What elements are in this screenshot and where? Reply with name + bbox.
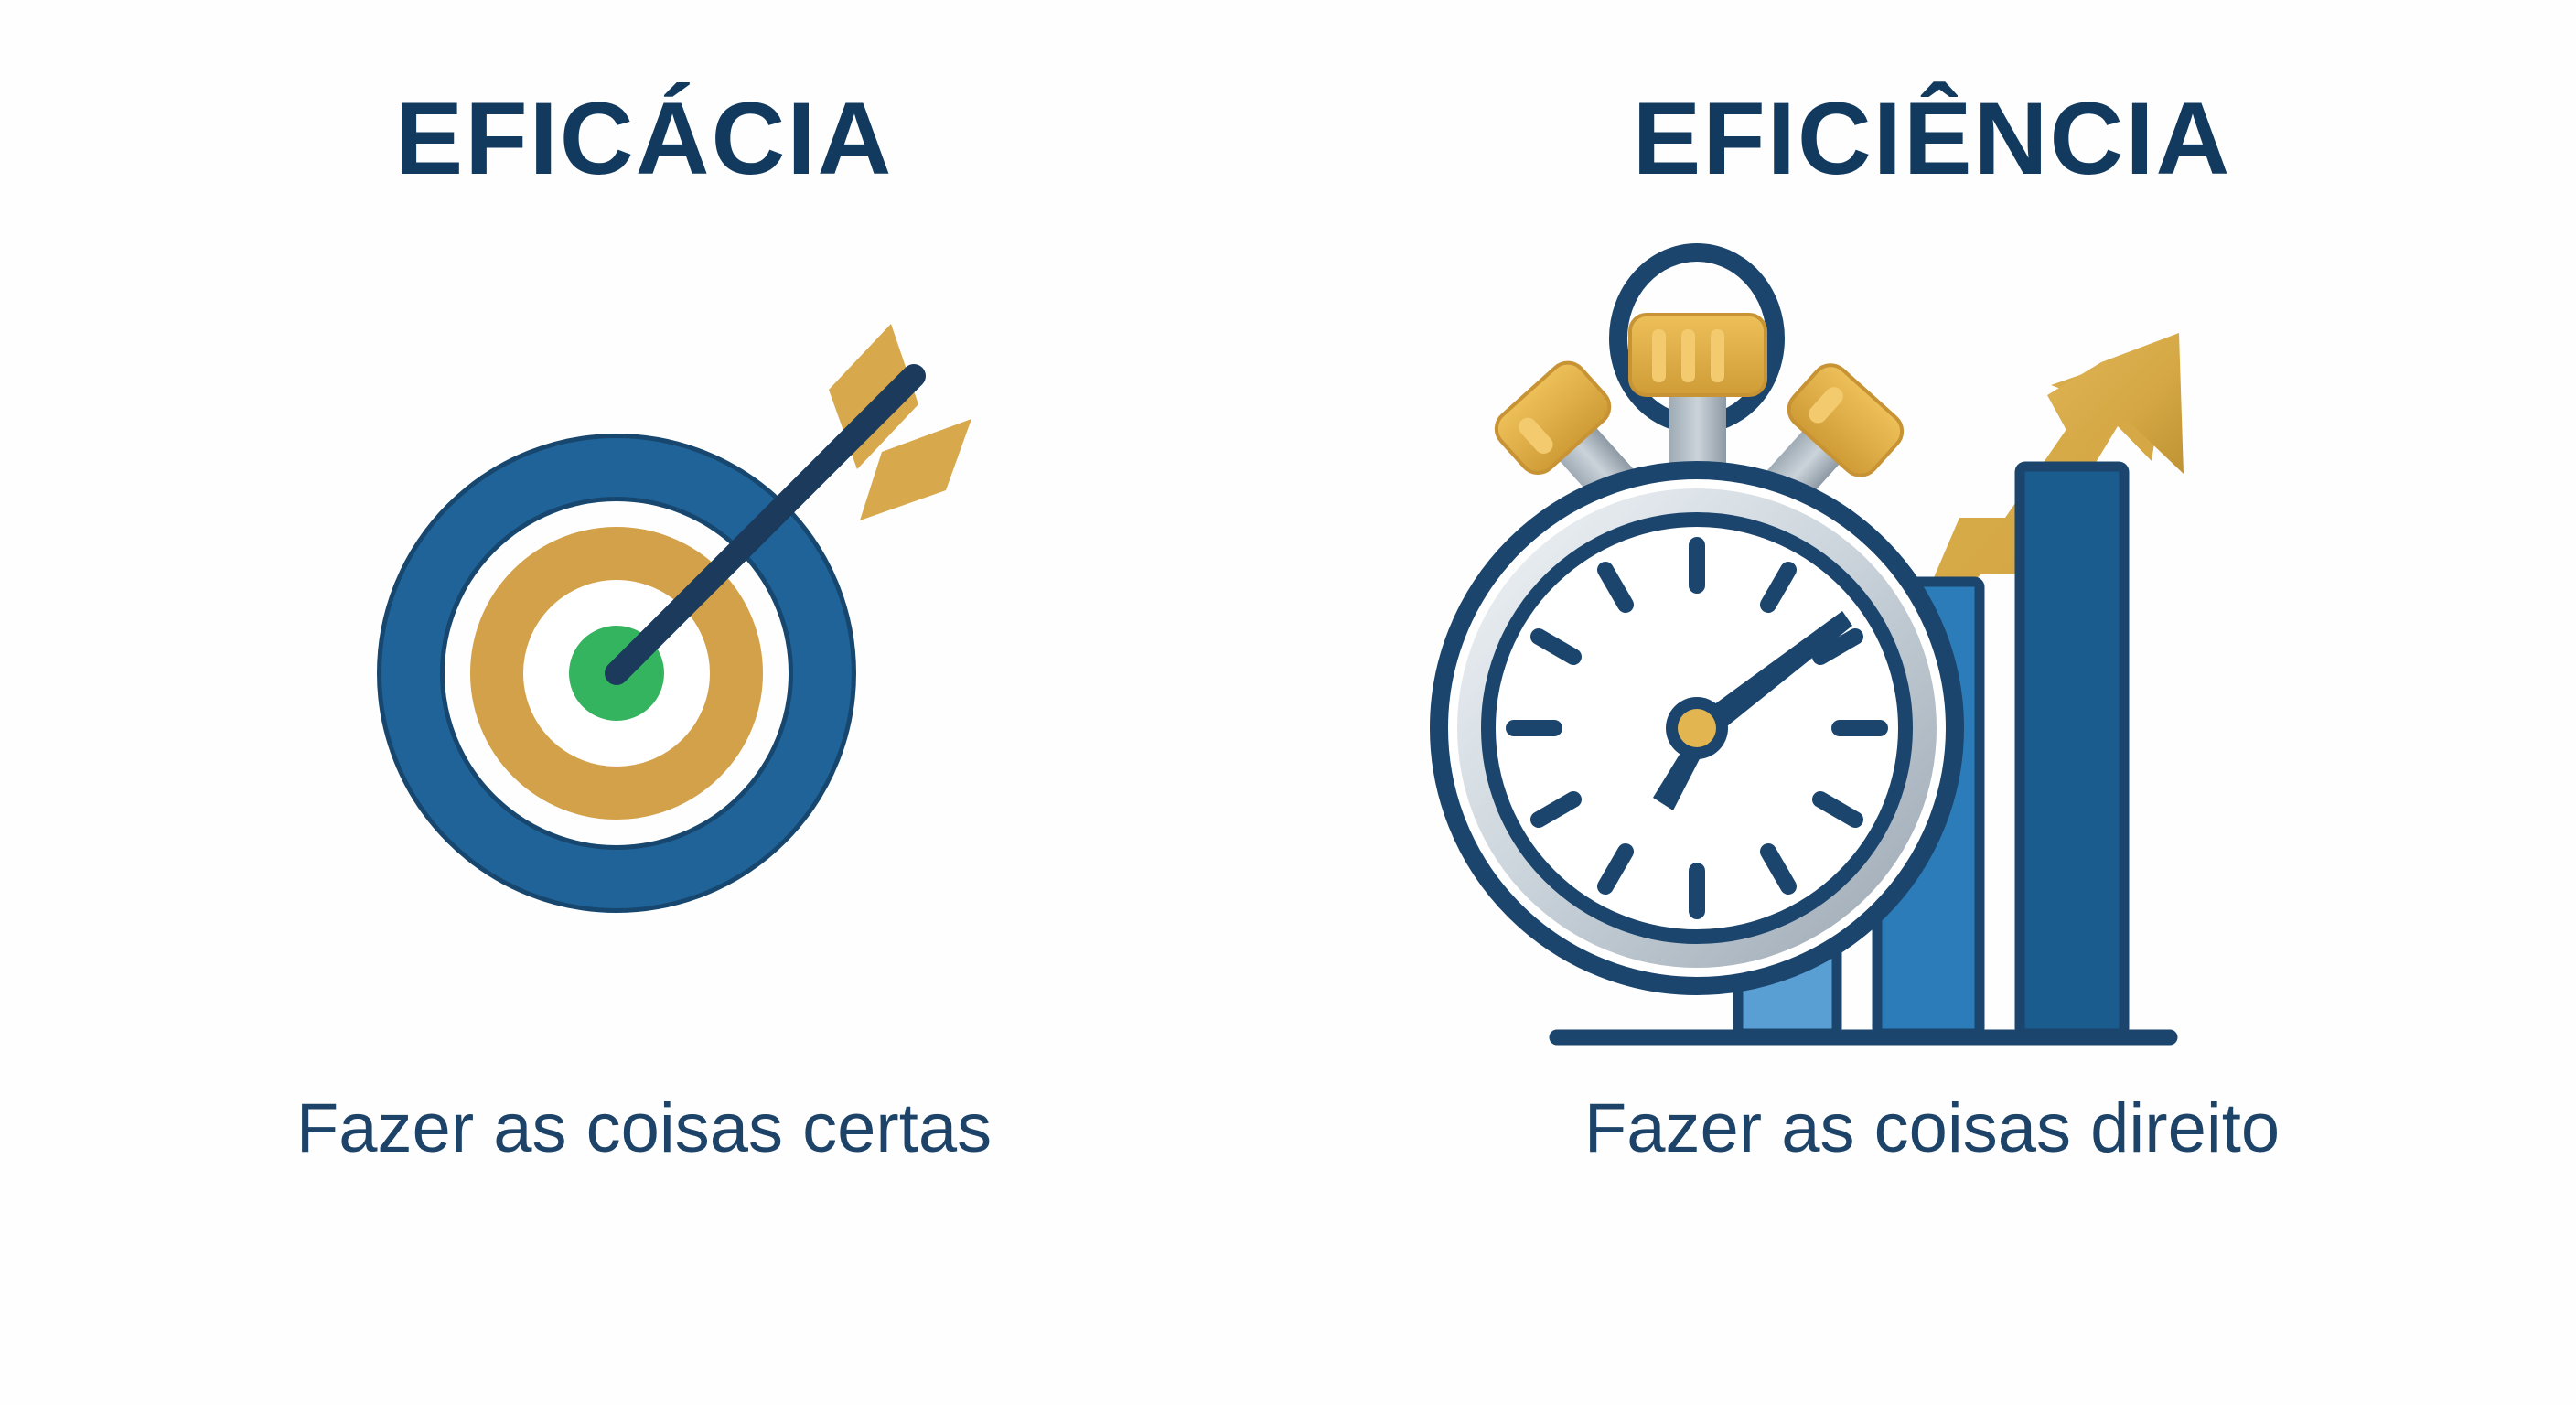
crown-rib-2 bbox=[1681, 329, 1695, 382]
stopwatch-chart-illustration-wrap bbox=[1288, 207, 2576, 1085]
crown-rib-1 bbox=[1652, 329, 1666, 382]
panel-eficiencia: EFICIÊNCIA bbox=[1288, 0, 2576, 1405]
stopwatch-crown-button[interactable] bbox=[1630, 315, 1766, 395]
crown-rib-3 bbox=[1711, 329, 1724, 382]
panel-eficacia: EFICÁCIA Fazer as c bbox=[0, 0, 1288, 1405]
panel-title-eficacia: EFICÁCIA bbox=[395, 88, 894, 190]
stopwatch-center-pin bbox=[1678, 709, 1716, 747]
panel-caption-eficiencia: Fazer as coisas direito bbox=[1584, 1094, 2280, 1164]
panel-caption-eficacia: Fazer as coisas certas bbox=[296, 1094, 992, 1164]
bar-3 bbox=[2020, 467, 2124, 1034]
panel-title-eficiencia: EFICIÊNCIA bbox=[1633, 88, 2232, 190]
comparison-board: EFICÁCIA Fazer as c bbox=[0, 0, 2576, 1405]
stopwatch-with-growth-chart-icon bbox=[1447, 216, 2417, 1076]
target-with-arrow-icon bbox=[187, 216, 1101, 1076]
target-illustration-wrap bbox=[0, 207, 1288, 1085]
stopwatch-group bbox=[1439, 252, 1955, 986]
arrow-shaft-icon bbox=[617, 376, 914, 673]
